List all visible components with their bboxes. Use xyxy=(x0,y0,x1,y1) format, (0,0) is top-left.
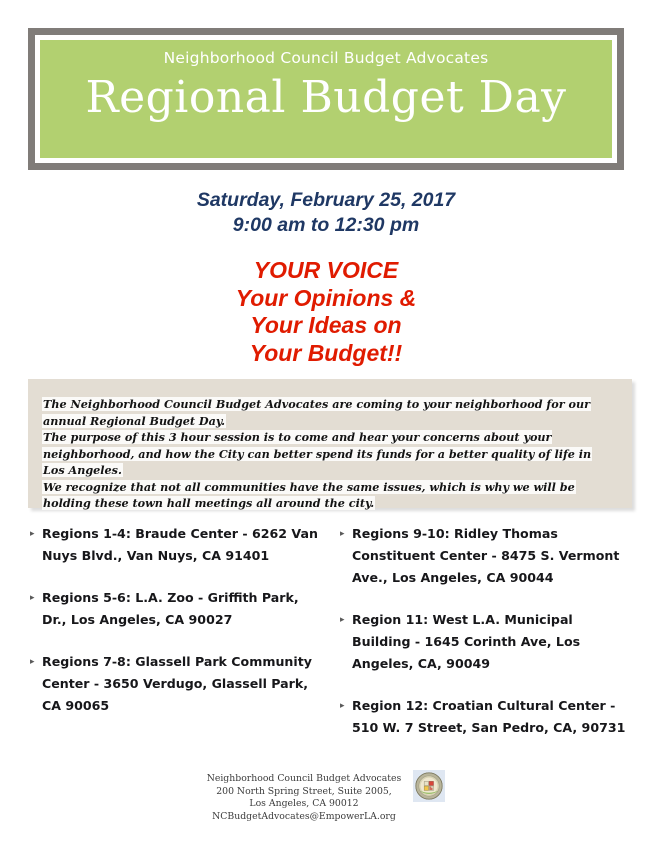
footer-contact-block: Neighborhood Council Budget Advocates 20… xyxy=(207,770,402,823)
footer-email[interactable]: NCBudgetAdvocates@EmpowerLA.org xyxy=(207,811,402,824)
location-text: Region 11: West L.A. Municipal Building … xyxy=(352,609,632,675)
description-box: The Neighborhood Council Budget Advocate… xyxy=(28,379,632,508)
header-banner: Neighborhood Council Budget Advocates Re… xyxy=(28,28,624,170)
locations-section: ▸ Regions 1-4: Braude Center - 6262 Van … xyxy=(28,523,632,759)
list-item: ▸ Regions 5-6: L.A. Zoo - Griffith Park,… xyxy=(28,587,322,631)
slogan-line-3: Your Ideas on xyxy=(0,312,652,340)
description-paragraph-1-text: The Neighborhood Council Budget Advocate… xyxy=(42,397,591,428)
slogan-line-2: Your Opinions & xyxy=(0,285,652,313)
location-text: Regions 7-8: Glassell Park Community Cen… xyxy=(42,651,322,717)
list-item: ▸ Regions 7-8: Glassell Park Community C… xyxy=(28,651,322,717)
slogan-line-4: Your Budget!! xyxy=(0,340,652,368)
footer-line-3: Los Angeles, CA 90012 xyxy=(207,798,402,811)
list-item: ▸ Region 11: West L.A. Municipal Buildin… xyxy=(338,609,632,675)
footer-line-2: 200 North Spring Street, Suite 2005, xyxy=(207,786,402,799)
triangle-bullet-icon: ▸ xyxy=(338,523,352,544)
description-paragraph-3: We recognize that not all communities ha… xyxy=(42,479,616,512)
organization-name: Neighborhood Council Budget Advocates xyxy=(164,49,489,67)
triangle-bullet-icon: ▸ xyxy=(28,523,42,544)
slogan-line-1: YOUR VOICE xyxy=(0,257,652,285)
location-text: Regions 1-4: Braude Center - 6262 Van Nu… xyxy=(42,523,322,567)
triangle-bullet-icon: ▸ xyxy=(28,587,42,608)
event-datetime: Saturday, February 25, 2017 9:00 am to 1… xyxy=(0,188,652,238)
triangle-bullet-icon: ▸ xyxy=(338,609,352,630)
location-text: Regions 5-6: L.A. Zoo - Griffith Park, D… xyxy=(42,587,322,631)
slogan-block: YOUR VOICE Your Opinions & Your Ideas on… xyxy=(0,257,652,367)
list-item: ▸ Region 12: Croatian Cultural Center - … xyxy=(338,695,632,739)
header-green-band: Neighborhood Council Budget Advocates Re… xyxy=(40,40,612,158)
location-text: Region 12: Croatian Cultural Center - 51… xyxy=(352,695,632,739)
description-paragraph-2: The purpose of this 3 hour session is to… xyxy=(42,429,616,479)
city-seal-container xyxy=(413,770,445,802)
event-date: Saturday, February 25, 2017 xyxy=(0,188,652,213)
footer: Neighborhood Council Budget Advocates 20… xyxy=(0,770,652,823)
description-paragraph-1: The Neighborhood Council Budget Advocate… xyxy=(42,396,616,429)
city-of-los-angeles-seal-icon xyxy=(415,772,443,800)
list-item: ▸ Regions 9-10: Ridley Thomas Constituen… xyxy=(338,523,632,589)
event-time: 9:00 am to 12:30 pm xyxy=(0,213,652,238)
description-paragraph-3-text: We recognize that not all communities ha… xyxy=(42,480,576,511)
triangle-bullet-icon: ▸ xyxy=(28,651,42,672)
description-paragraph-2-text: The purpose of this 3 hour session is to… xyxy=(42,430,592,477)
footer-line-1: Neighborhood Council Budget Advocates xyxy=(207,773,402,786)
triangle-bullet-icon: ▸ xyxy=(338,695,352,716)
page-title: Regional Budget Day xyxy=(85,75,566,121)
location-text: Regions 9-10: Ridley Thomas Constituent … xyxy=(352,523,632,589)
locations-right-column: ▸ Regions 9-10: Ridley Thomas Constituen… xyxy=(338,523,632,759)
locations-left-column: ▸ Regions 1-4: Braude Center - 6262 Van … xyxy=(28,523,322,759)
list-item: ▸ Regions 1-4: Braude Center - 6262 Van … xyxy=(28,523,322,567)
header-white-inset: Neighborhood Council Budget Advocates Re… xyxy=(35,35,617,163)
